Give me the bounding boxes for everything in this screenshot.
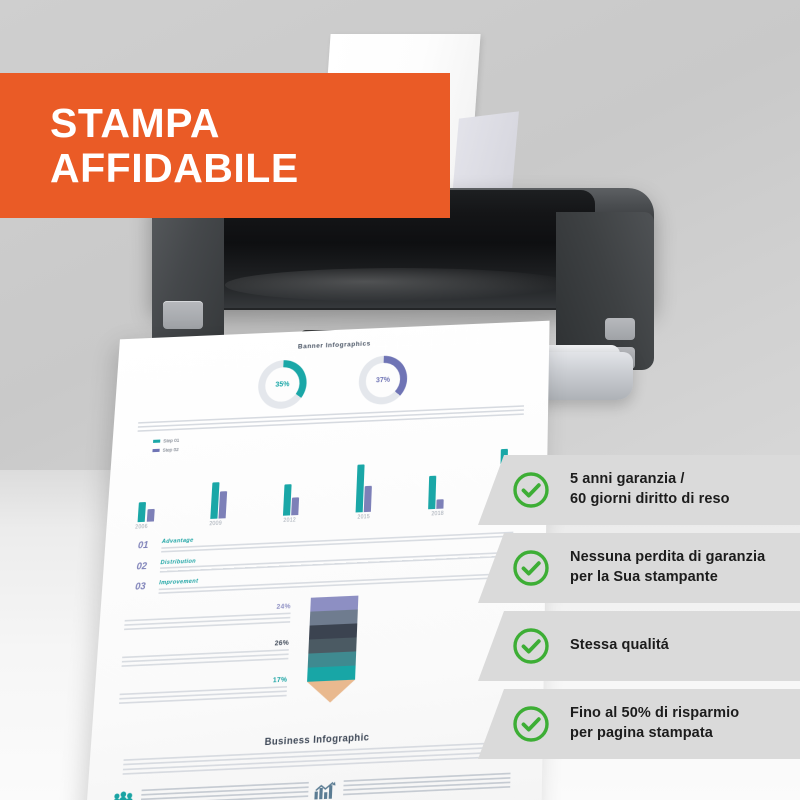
headline-banner: STAMPA AFFIDABILE: [0, 73, 450, 218]
step-number-01: 01: [138, 540, 155, 551]
feature-box-4: Fino al 50% di risparmio per pagina stam…: [478, 689, 800, 759]
bar-step-02-2009: [219, 491, 228, 519]
x-tick-2006: 2006: [135, 524, 148, 531]
bottom-feature-grid: [108, 772, 517, 800]
bar-step-02-2018: [436, 499, 443, 510]
bar-group-2012: [283, 484, 300, 516]
check-circle-icon: [512, 471, 550, 509]
feature-box-4-text: Fino al 50% di risparmio per pagina stam…: [570, 704, 739, 743]
donut-chart-2-label: 37%: [358, 355, 408, 406]
check-circle-icon: [512, 549, 550, 587]
legend-label-step-01: Step 01: [163, 438, 179, 444]
bar-step-01-2015: [355, 464, 364, 512]
x-tick-2015: 2015: [357, 514, 370, 521]
bar-group-2018: [428, 476, 445, 510]
x-tick-2018: 2018: [431, 511, 444, 518]
bar-step-01-2012: [283, 484, 292, 516]
bar-step-02-2006: [146, 509, 154, 522]
feature-box-2-text: Nessuna perdita di garanzia per la Sua s…: [570, 548, 765, 587]
printed-infographic-sheet: Banner Infographics 35% 37% Step 01 Step…: [84, 321, 549, 800]
page-title: STAMPA AFFIDABILE: [0, 101, 299, 190]
x-tick-2009: 2009: [209, 521, 222, 528]
people-group-icon: [112, 790, 135, 800]
bar-step-01-2009: [210, 482, 219, 519]
feature-box-3: Stessa qualitá: [478, 611, 800, 681]
donut-chart-2: 37%: [358, 355, 408, 406]
bar-step-01-2018: [428, 476, 436, 510]
feature-box-3-text: Stessa qualitá: [570, 636, 669, 656]
infographic-content: Banner Infographics 35% 37% Step 01 Step…: [84, 321, 549, 800]
bottom-feature-2-text: [343, 773, 511, 799]
feature-2-line-1: Nessuna perdita di garanzia: [570, 549, 765, 565]
feature-1-line-1: 5 anni garanzia /: [570, 471, 685, 487]
donut-chart-1: 35%: [257, 359, 308, 410]
step-number-02: 02: [136, 560, 153, 571]
bar-step-02-2015: [364, 486, 372, 512]
donut-chart-1-label: 35%: [257, 359, 308, 410]
x-tick-2012: 2012: [283, 518, 296, 525]
percentage-callout-1: 24%: [124, 603, 291, 633]
bar-step-02-2012: [291, 497, 299, 516]
percentage-callout-3: 17%: [119, 676, 288, 707]
bar-chart-growth-icon: [314, 781, 336, 800]
pencil-tip: [306, 680, 355, 704]
feature-4-line-1: Fino al 50% di risparmio: [570, 705, 739, 721]
percentage-callout-2: 26%: [121, 639, 289, 669]
numbered-step-list: 01 Advantage 02 Distribution: [135, 524, 514, 597]
feature-box-1-text: 5 anni garanzia / 60 giorni diritto di r…: [570, 470, 730, 509]
feature-4-line-2: per pagina stampata: [570, 725, 713, 741]
bottom-feature-2: [314, 772, 517, 800]
bottom-feature-1-text: [141, 782, 309, 800]
check-circle-icon: [512, 705, 550, 743]
legend-swatch-step-01: [153, 440, 160, 443]
promo-banner-image: Banner Infographics 35% 37% Step 01 Step…: [0, 0, 800, 800]
step-number-03: 03: [135, 581, 152, 592]
legend-swatch-step-02: [152, 449, 159, 452]
check-circle-icon: [512, 627, 550, 665]
pencil-graphic: [306, 596, 358, 704]
feature-1-line-2: 60 giorni diritto di reso: [570, 491, 730, 507]
donut-chart-group: 35% 37%: [133, 349, 531, 415]
feature-box-2: Nessuna perdita di garanzia per la Sua s…: [478, 533, 800, 603]
bar-group-2006: [138, 501, 155, 522]
feature-2-line-2: per la Sua stampante: [570, 569, 718, 585]
bar-step-01-2006: [138, 502, 147, 523]
percentage-callout-list: 24% 26% 17%: [118, 603, 291, 721]
bar-group-2009: [210, 482, 228, 520]
legend-label-step-02: Step 02: [163, 447, 179, 453]
bar-group-2015: [355, 464, 373, 513]
headline-line-1: STAMPA: [50, 100, 220, 146]
bottom-feature-1: [112, 782, 315, 800]
headline-line-2: AFFIDABILE: [50, 145, 299, 191]
feature-box-1: 5 anni garanzia / 60 giorni diritto di r…: [478, 455, 800, 525]
feature-3-line-1: Stessa qualitá: [570, 637, 669, 653]
pencil-infographic-section: 24% 26% 17%: [110, 592, 526, 739]
